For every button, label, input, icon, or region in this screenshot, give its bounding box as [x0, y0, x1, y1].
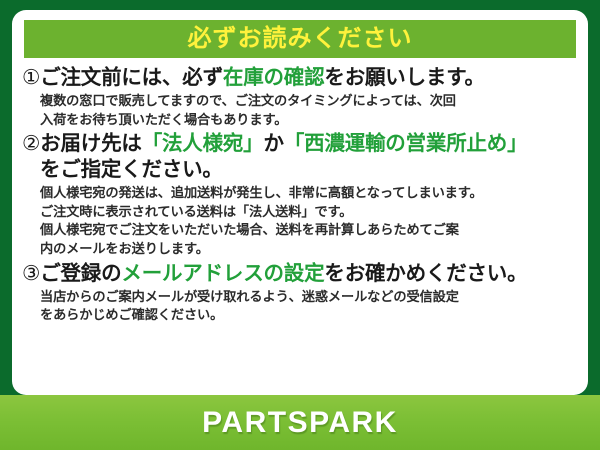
banner-title: 必ずお読みください — [188, 27, 413, 51]
notice-heading-3-highlight: メールアドレスの設定 — [121, 262, 324, 285]
notice-sub-2: 個人様宅宛の発送は、追加送料が発生し、非常に高額となってしまいます。 ご注文時に… — [40, 184, 578, 259]
notice-panel: 必ずお読みください ①ご注文前には、必ず在庫の確認をお願いします。 複数の窓口で… — [12, 10, 588, 395]
notice-heading-1: ①ご注文前には、必ず在庫の確認をお願いします。 — [22, 65, 578, 91]
notice-heading-1-highlight: 在庫の確認 — [223, 66, 325, 89]
partspark-logo: PARTSPARK — [202, 408, 398, 438]
notice-sub-3: 当店からのご案内メールが受け取れるよう、迷惑メールなどの受信設定 をあらかじめご… — [40, 288, 578, 325]
notice-heading-3-part-1: ご登録の — [40, 262, 121, 285]
notice-heading-1-part-3: をお願いします。 — [324, 66, 484, 89]
notice-list: ①ご注文前には、必ず在庫の確認をお願いします。 複数の窓口で販売してますので、ご… — [12, 58, 588, 325]
notice-heading-2-line2-text: をご指定ください。 — [40, 157, 578, 183]
footer-bar: PARTSPARK — [0, 395, 600, 450]
notice-marker-2: ② — [22, 132, 40, 155]
notice-marker-3: ③ — [22, 262, 40, 285]
notice-heading-2: ②お届け先は「法人様宛」か「西濃運輸の営業所止め」 — [22, 131, 578, 157]
notice-heading-2-highlight-1: 「法人様宛」 — [142, 132, 264, 155]
notice-heading-1-part-1: ご注文前には、必ず — [40, 66, 223, 89]
notice-sub-1: 複数の窓口で販売してますので、ご注文のタイミングによっては、次回 入荷をお待ち頂… — [40, 92, 578, 129]
notice-item-2: ②お届け先は「法人様宛」か「西濃運輸の営業所止め」 をご指定ください。 個人様宅… — [22, 131, 578, 259]
notice-item-3: ③ご登録のメールアドレスの設定をお確かめください。 当店からのご案内メールが受け… — [22, 261, 578, 325]
title-bar: 必ずお読みください — [24, 20, 576, 58]
notice-banner: 必ずお読みください ①ご注文前には、必ず在庫の確認をお願いします。 複数の窓口で… — [0, 0, 600, 450]
notice-heading-3: ③ご登録のメールアドレスの設定をお確かめください。 — [22, 261, 578, 287]
notice-heading-2-part-3: か — [264, 132, 284, 155]
notice-heading-3-part-3: をお確かめください。 — [324, 262, 527, 285]
notice-heading-2-part-1: お届け先は — [40, 132, 142, 155]
notice-marker-1: ① — [22, 66, 40, 89]
notice-heading-2-highlight-2: 「西濃運輸の営業所止め」 — [284, 132, 528, 155]
notice-heading-2-line2: をご指定ください。 — [22, 157, 578, 183]
notice-item-1: ①ご注文前には、必ず在庫の確認をお願いします。 複数の窓口で販売してますので、ご… — [22, 65, 578, 129]
